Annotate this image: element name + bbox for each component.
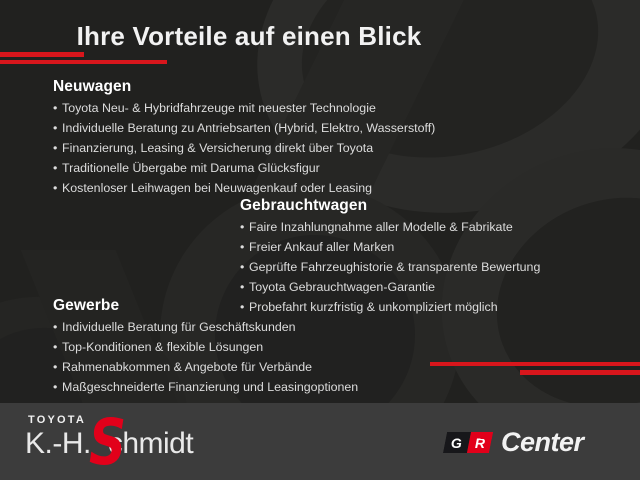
section-list: •Individuelle Beratung für Geschäftskund…: [53, 317, 358, 397]
list-item-text: Faire Inzahlungnahme aller Modelle & Fab…: [249, 220, 513, 234]
list-item: •Faire Inzahlungnahme aller Modelle & Fa…: [240, 217, 540, 237]
list-item: •Toyota Gebrauchtwagen-Garantie: [240, 277, 540, 297]
list-item-text: Kostenloser Leihwagen bei Neuwagenkauf o…: [62, 181, 372, 195]
list-item: •Rahmenabkommen & Angebote für Verbände: [53, 357, 358, 377]
bullet-icon: •: [53, 118, 62, 138]
section-heading: Neuwagen: [53, 78, 435, 96]
page-title: Ihre Vorteile auf einen Blick: [0, 21, 640, 52]
list-item: •Kostenloser Leihwagen bei Neuwagenkauf …: [53, 178, 435, 198]
bullet-icon: •: [53, 357, 62, 377]
list-item: •Toyota Neu- & Hybridfahrzeuge mit neues…: [53, 98, 435, 118]
list-item: •Traditionelle Übergabe mit Daruma Glück…: [53, 158, 435, 178]
bullet-icon: •: [53, 158, 62, 178]
section-neuwagen: Neuwagen •Toyota Neu- & Hybridfahrzeuge …: [53, 78, 435, 198]
dealer-name-s-mark: S: [89, 411, 126, 474]
list-item: •Individuelle Beratung zu Antriebsarten …: [53, 118, 435, 138]
gr-center-logo: G R Center: [445, 427, 584, 457]
list-item-text: Maßgeschneiderte Finanzierung und Leasin…: [62, 380, 358, 394]
footer-bar: TOYOTA K.-H.chmidt S G R Center: [0, 403, 640, 480]
list-item: •Maßgeschneiderte Finanzierung und Leasi…: [53, 377, 358, 397]
bullet-icon: •: [53, 98, 62, 118]
accent-bar-top-left-thin: [0, 60, 167, 64]
gr-center-label: Center: [501, 429, 584, 456]
list-item-text: Individuelle Beratung zu Antriebsarten (…: [62, 121, 435, 135]
section-heading: Gewerbe: [53, 297, 358, 315]
list-item-text: Top-Konditionen & flexible Lösungen: [62, 340, 263, 354]
list-item: •Freier Ankauf aller Marken: [240, 237, 540, 257]
list-item-text: Freier Ankauf aller Marken: [249, 240, 394, 254]
accent-bar-top-left-thick: [0, 52, 84, 57]
section-gewerbe: Gewerbe •Individuelle Beratung für Gesch…: [53, 297, 358, 397]
dealer-name-prefix: K.-H.: [25, 427, 91, 460]
list-item-text: Toyota Neu- & Hybridfahrzeuge mit neuest…: [62, 101, 376, 115]
promo-slide: Ihre Vorteile auf einen Blick Neuwagen •…: [0, 0, 640, 480]
list-item-text: Individuelle Beratung für Geschäftskunde…: [62, 320, 296, 334]
bullet-icon: •: [240, 237, 249, 257]
list-item-text: Finanzierung, Leasing & Versicherung dir…: [62, 141, 373, 155]
dealer-logo: TOYOTA K.-H.chmidt S: [25, 414, 255, 472]
accent-bar-bottom-right-thin: [430, 362, 640, 366]
toyota-brand-label: TOYOTA: [28, 414, 86, 426]
gr-badge-g-letter: G: [447, 434, 466, 450]
gr-badge-icon: G R: [443, 432, 493, 453]
accent-bar-bottom-right-thick: [520, 370, 640, 375]
section-heading: Gebrauchtwagen: [240, 197, 540, 215]
list-item-text: Geprüfte Fahrzeughistorie & transparente…: [249, 260, 540, 274]
list-item-text: Traditionelle Übergabe mit Daruma Glücks…: [62, 161, 320, 175]
list-item: •Individuelle Beratung für Geschäftskund…: [53, 317, 358, 337]
list-item-text: Toyota Gebrauchtwagen-Garantie: [249, 280, 435, 294]
bullet-icon: •: [240, 277, 249, 297]
dealer-name: K.-H.chmidt S: [25, 427, 193, 461]
bullet-icon: •: [53, 377, 62, 397]
list-item: •Geprüfte Fahrzeughistorie & transparent…: [240, 257, 540, 277]
gr-badge-accent: [480, 432, 493, 439]
section-list: •Toyota Neu- & Hybridfahrzeuge mit neues…: [53, 98, 435, 198]
bullet-icon: •: [240, 257, 249, 277]
bullet-icon: •: [53, 317, 62, 337]
list-item-text: Rahmenabkommen & Angebote für Verbände: [62, 360, 312, 374]
bullet-icon: •: [53, 337, 62, 357]
bullet-icon: •: [53, 178, 62, 198]
list-item: •Top-Konditionen & flexible Lösungen: [53, 337, 358, 357]
bullet-icon: •: [240, 217, 249, 237]
list-item: •Finanzierung, Leasing & Versicherung di…: [53, 138, 435, 158]
bullet-icon: •: [53, 138, 62, 158]
